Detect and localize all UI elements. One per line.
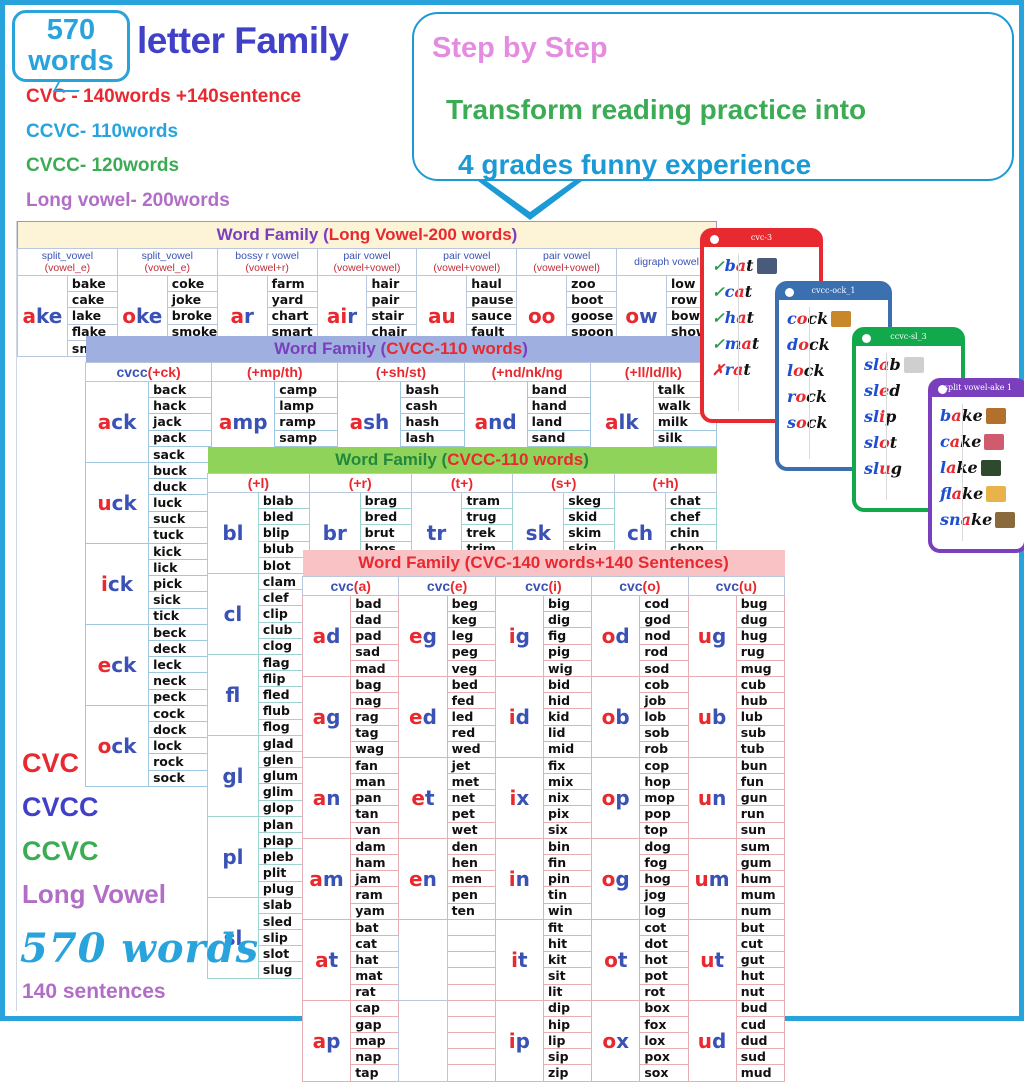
word-cell: beck [149,624,212,640]
word-cell: cock [149,705,212,721]
onset-letters: b [725,256,736,275]
word-cell: camp [275,382,338,398]
word-cell: goose [567,308,617,324]
rime-label: an [303,757,351,838]
word-cell: hip [543,1016,591,1032]
column-subhead: (+ll/ld/lk) [590,363,716,382]
word-cell: bid [543,676,591,692]
vowel-letter: a [950,432,960,451]
word-cell: man [351,774,399,790]
vowel-letter: u [879,459,891,478]
word-cell: sub [736,725,784,741]
column-subhead: (+mp/th) [212,363,338,382]
flashcard-word-row: flake [940,481,1020,507]
rime-label: eck [86,624,149,705]
section-band: Word Family (CVCC-110 words) [86,336,717,363]
vowel-letter: o [797,309,808,328]
word-cell: cob [640,676,688,692]
word-cell [447,952,495,968]
word-cell: suck [149,511,212,527]
long-vowel-subhead: pair vowel(vowel+vowel) [517,249,617,276]
word-cell: cash [401,398,464,414]
rime-label: og [592,838,640,919]
word-cell: duck [149,479,212,495]
speech-bubble: Step by Step Transform reading practice … [412,12,1014,181]
word-cell: lake [67,308,117,324]
word-cell: lox [640,1033,688,1049]
word-cell: pix [543,806,591,822]
word-cell: farm [267,276,317,292]
onset-letters: r [725,360,733,379]
word-cell: box [640,1000,688,1016]
word-cell: sad [351,644,399,660]
word-cell: bat [351,919,399,935]
word-cell: lick [149,560,212,576]
word-cell [447,919,495,935]
word-cell: fig [543,628,591,644]
coda-letters: t [745,282,752,301]
rime-label: am [303,838,351,919]
word-cell: fun [736,774,784,790]
word-cell: beg [447,596,495,612]
badge-unit: words [15,46,127,77]
word-cell: sod [640,660,688,676]
long-vowel-subhead: split_vowel(vowel_e) [18,249,118,276]
long-vowel-band: Word Family (Long Vowel-200 words) [18,222,717,249]
word-cell: bed [447,676,495,692]
word-cell: lock [149,738,212,754]
empty-cell [399,1000,447,1081]
onset-letters: h [725,308,737,327]
blend-label: cl [208,573,259,654]
word-cell: yam [351,903,399,919]
word-cell: lid [543,725,591,741]
onset-letters: sl [864,381,879,400]
word-cell: veg [447,660,495,676]
word-cell: lash [401,430,464,446]
blend-label: bl [208,493,259,574]
word-cell: map [351,1033,399,1049]
onset-letters: sn [940,510,961,529]
rime-label: et [399,757,447,838]
word-cell: men [447,871,495,887]
coda-letters: ke [962,406,983,425]
word-cell: brag [360,493,411,509]
coda-letters: ck [804,361,825,380]
word-cell: run [736,806,784,822]
word-cell: dip [543,1000,591,1016]
check-icon: ✓ [712,283,725,301]
word-cell: chat [666,493,717,509]
coda-letters: t [890,433,897,452]
word-cell: chef [666,509,717,525]
word-cell: hid [543,693,591,709]
rime-label: ag [303,676,351,757]
word-cell: met [447,774,495,790]
word-cell: tick [149,608,212,624]
word-cell: bag [351,676,399,692]
rime-label: id [495,676,543,757]
word-cell: mix [543,774,591,790]
column-subhead: (+l) [208,474,310,493]
vowel-letter: a [951,406,961,425]
rime-label: ix [495,757,543,838]
word-cell: pan [351,790,399,806]
word-cell: tub [736,741,784,757]
card-divider [809,307,810,459]
rime-label: it [495,919,543,1000]
word-cell: pick [149,576,212,592]
word-cell: brut [360,525,411,541]
word-cell: dud [736,1033,784,1049]
rime-label: ake [18,276,68,357]
rime-label: op [592,757,640,838]
flashcard-4[interactable]: split vowel-ake 1bakecakelakeflakesnake [928,378,1024,553]
word-cell: nix [543,790,591,806]
onset-letters: s [787,413,796,432]
card-divider [962,404,963,541]
word-cell: jog [640,887,688,903]
word-cell: skeg [564,493,615,509]
word-cell: win [543,903,591,919]
word-cell: band [527,382,590,398]
word-count-badge: 570 words [12,10,130,82]
vowel-letter: o [879,433,890,452]
word-cell: bin [543,838,591,854]
word-cell: kick [149,543,212,559]
word-cell: gum [736,855,784,871]
flashcard-titlebar: ccvc-sl_3 [856,331,961,346]
column-subhead: (t+) [411,474,513,493]
coda-letters: t [746,256,753,275]
flashcard-body: bakecakelakeflakesnake [932,397,1024,537]
rime-label: ick [86,543,149,624]
coda-letters: t [747,308,754,327]
empty-cell [399,919,447,1000]
word-cell: dad [351,612,399,628]
word-cell: back [149,382,212,398]
word-cell: sauce [467,308,517,324]
word-cell: nap [351,1049,399,1065]
word-cell: pop [640,806,688,822]
coda-letters: g [891,459,902,478]
word-cell [447,1049,495,1065]
long-vowel-subhead: pair vowel(vowel+vowel) [317,249,417,276]
word-cell: nod [640,628,688,644]
onset-letters: c [940,432,950,451]
word-cell: pot [640,968,688,984]
word-cell: net [447,790,495,806]
word-cell: zip [543,1065,591,1081]
onset-letters: c [725,282,735,301]
word-cell: broke [167,308,217,324]
word-cell: rob [640,741,688,757]
coda-letters: ke [956,458,977,477]
column-subhead: cvc(o) [592,577,688,596]
word-cell: six [543,822,591,838]
word-cell: gap [351,1016,399,1032]
word-cell: hog [640,871,688,887]
onset-letters: sl [864,355,879,374]
word-cell: fox [640,1016,688,1032]
cvc-wrapper: Word Family (CVC-140 words+140 Sentences… [302,550,785,1082]
column-subhead: cvc(u) [688,577,785,596]
word-cell: blab [258,493,309,509]
word-cell: lob [640,709,688,725]
coda-letters: t [752,334,759,353]
word-cell: led [447,709,495,725]
onset-letters: c [787,309,797,328]
word-cell: cop [640,757,688,773]
word-cell: sud [736,1049,784,1065]
flashcard-word-row: ✓bat [712,253,815,279]
word-cell: pair [367,292,417,308]
rime-label: ack [86,382,149,463]
word-cell: blip [258,525,309,541]
word-cell [447,1065,495,1081]
word-cell: hug [736,628,784,644]
word-cell: hash [401,414,464,430]
word-cell: bad [351,596,399,612]
word-cell: chin [666,525,717,541]
rime-label: in [495,838,543,919]
word-cell: leg [447,628,495,644]
column-subhead: (+h) [615,474,717,493]
cake-image [984,434,1004,450]
coda-letters: ke [971,510,992,529]
coda-letters: ck [809,335,830,354]
word-cell: gun [736,790,784,806]
column-subhead: cvc(e) [399,577,495,596]
vowel-letter: o [793,361,804,380]
badge-number: 570 [15,13,127,46]
word-cell: dug [736,612,784,628]
word-cell: sum [736,838,784,854]
word-cell: mug [736,660,784,676]
word-cell: tan [351,806,399,822]
word-cell: cot [640,919,688,935]
word-cell: bun [736,757,784,773]
word-cell: yard [267,292,317,308]
word-cell: jam [351,871,399,887]
flake-image [986,486,1006,502]
word-cell: tram [462,493,513,509]
word-cell: samp [275,430,338,446]
word-cell: sip [543,1049,591,1065]
word-cell: silk [653,430,716,446]
check-icon: ✓ [712,335,725,353]
word-cell: sock [149,770,212,786]
flashcard-titlebar: split vowel-ake 1 [932,382,1024,397]
word-cell: cub [736,676,784,692]
rime-label: en [399,838,447,919]
word-cell: land [527,414,590,430]
word-cell: coke [167,276,217,292]
word-cell: mop [640,790,688,806]
word-cell: tap [351,1065,399,1081]
word-cell: cod [640,596,688,612]
rime-label: eg [399,596,447,677]
word-cell: hat [351,952,399,968]
word-cell: cat [351,935,399,951]
word-cell: pig [543,644,591,660]
word-cell: cut [736,935,784,951]
coda-letters: d [889,381,900,400]
vowel-letter: o [795,387,806,406]
check-icon: ✓ [712,257,725,275]
flashcard-word-row: slab [864,352,957,378]
word-cell: rag [351,709,399,725]
word-cell: pet [447,806,495,822]
column-subhead: cvcc(+ck) [86,363,212,382]
word-cell: hen [447,855,495,871]
word-cell [447,935,495,951]
word-cell: den [447,838,495,854]
onset-letters: sl [864,407,879,426]
rime-label: at [303,919,351,1000]
word-cell: gut [736,952,784,968]
column-subhead: cvc(a) [303,577,399,596]
word-cell: nut [736,984,784,1000]
word-cell: sun [736,822,784,838]
bottom-total-words: 570 words [20,925,259,972]
word-cell: ten [447,903,495,919]
long-vowel-subhead: bossy r vowel(vowel+r) [217,249,317,276]
word-cell: mid [543,741,591,757]
word-cell: wag [351,741,399,757]
word-cell: keg [447,612,495,628]
long-vowel-subhead: split_vowel(vowel_e) [117,249,217,276]
coda-letters: ke [962,484,983,503]
word-cell: kit [543,952,591,968]
word-cell: pack [149,430,212,446]
word-cell: sand [527,430,590,446]
word-cell: fin [543,855,591,871]
bubble-line-1: Step by Step [432,32,608,65]
word-cell: nag [351,693,399,709]
section-band: Word Family (CVCC-110 words) [208,447,717,474]
word-cell: deck [149,641,212,657]
vowel-letter: a [879,355,889,374]
word-cell: dam [351,838,399,854]
word-cell: wig [543,660,591,676]
word-cell: mad [351,660,399,676]
rime-label: ob [592,676,640,757]
bottom-legend-cvc: CVC [22,748,79,779]
word-cell: bled [258,509,309,525]
word-cell: bake [67,276,117,292]
word-cell: rat [351,984,399,1000]
word-cell [447,1033,495,1049]
page-title: letter Family [137,20,348,62]
word-cell: pad [351,628,399,644]
rime-label: ock [86,705,149,786]
rime-label: ad [303,596,351,677]
word-cell: bash [401,382,464,398]
vowel-letter: a [742,334,752,353]
word-cell: pox [640,1049,688,1065]
word-cell: wet [447,822,495,838]
rime-label: ip [495,1000,543,1081]
word-cell: mud [736,1065,784,1081]
word-cell: buck [149,462,212,478]
cross-icon: ✗ [712,361,725,379]
word-cell: lub [736,709,784,725]
word-cell: joke [167,292,217,308]
word-cell: dog [640,838,688,854]
word-cell: sox [640,1065,688,1081]
word-cell: zoo [567,276,617,292]
word-cell [447,984,495,1000]
word-cell: trug [462,509,513,525]
bottom-legend-long-vowel: Long Vowel [22,879,166,910]
word-cell: pen [447,887,495,903]
flashcard-word-row: bake [940,403,1020,429]
word-cell: skim [564,525,615,541]
column-subhead: (s+) [513,474,615,493]
word-cell: mum [736,887,784,903]
word-cell: fed [447,693,495,709]
word-cell: sob [640,725,688,741]
word-cell: sack [149,446,212,462]
legend-long-vowel: Long vowel- 200words [26,190,230,212]
word-cell: rot [640,984,688,1000]
word-cell: big [543,596,591,612]
rime-label: ig [495,596,543,677]
word-cell: hand [527,398,590,414]
bottom-legend-cvcc: CVCC [22,792,99,823]
flashcard-word-row: snake [940,507,1020,533]
rime-label: ox [592,1000,640,1081]
word-cell: tag [351,725,399,741]
flashcard-title: ccvc-sl_3 [856,332,961,341]
word-cell: hop [640,774,688,790]
word-cell: top [640,822,688,838]
blend-label: gl [208,735,259,816]
word-cell: sick [149,592,212,608]
word-cell: bug [736,596,784,612]
word-cell: kid [543,709,591,725]
word-cell: job [640,693,688,709]
flashcard-title: cvcc-ock_1 [779,286,888,295]
rime-label: ud [688,1000,736,1081]
rime-label: ot [592,919,640,1000]
rime-label: ed [399,676,447,757]
word-cell: hub [736,693,784,709]
word-cell: neck [149,673,212,689]
check-icon: ✓ [712,309,725,327]
column-subhead: (+nd/nk/ng [464,363,590,382]
word-cell: mat [351,968,399,984]
rime-label: un [688,757,736,838]
word-cell: cud [736,1016,784,1032]
onset-letters: sl [864,459,879,478]
flashcard-titlebar: cvc-3 [704,232,819,247]
flashcard-title: split vowel-ake 1 [932,383,1024,392]
word-cell: van [351,822,399,838]
flashcard-word-row: cake [940,429,1020,455]
word-cell: rod [640,644,688,660]
rime-label: ap [303,1000,351,1081]
flashcard-titlebar: cvcc-ock_1 [779,285,888,300]
onset-letters: b [940,406,951,425]
word-cell [447,1016,495,1032]
rime-label: ug [688,596,736,677]
long-vowel-subhead: pair vowel(vowel+vowel) [417,249,517,276]
word-cell: bred [360,509,411,525]
word-cell: haul [467,276,517,292]
blend-label: pl [208,816,259,897]
